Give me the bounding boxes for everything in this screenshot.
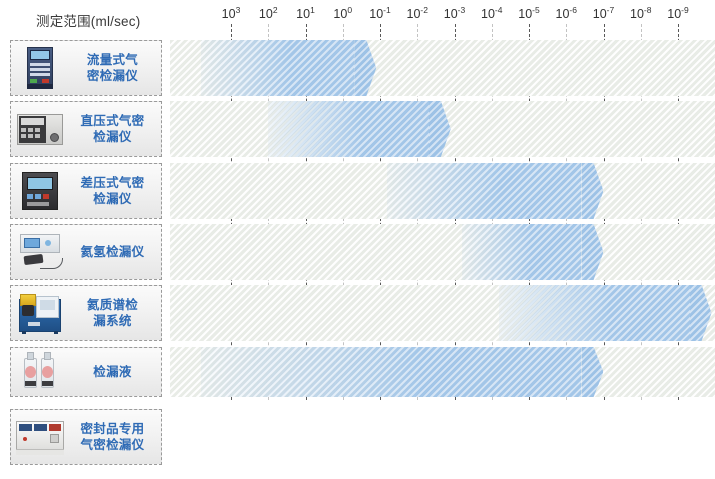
device-part-bar3	[49, 424, 61, 431]
device-part-screen	[21, 118, 44, 125]
device-part-t2	[42, 381, 53, 386]
device-part-l1	[25, 366, 36, 378]
row-track	[170, 40, 715, 96]
product-label-text: 密封品专用气密检漏仪	[68, 421, 157, 453]
device-illustration	[14, 107, 66, 151]
product-label-line-1: 检漏液	[68, 364, 157, 380]
device-part-b5	[28, 134, 33, 138]
chart-row: 氦氢检漏仪	[0, 224, 715, 280]
device-part-plate	[28, 322, 40, 326]
device-part-b2	[28, 128, 33, 132]
product-label-line-1: 密封品专用	[68, 421, 157, 437]
product-label-line-2: 检漏仪	[68, 191, 157, 207]
row-track	[170, 285, 715, 341]
range-bar-body	[201, 40, 354, 96]
device-part-screen	[24, 238, 40, 248]
range-bar-arrow-head	[581, 163, 603, 219]
range-bar	[462, 224, 604, 280]
product-label-line-1: 直压式气密	[68, 113, 157, 129]
product-label-line-2: 密检漏仪	[68, 68, 157, 84]
sealed-product-leak-tester-icon	[14, 415, 66, 459]
device-part-b4	[21, 134, 26, 138]
range-bar-body	[268, 101, 429, 157]
device-part-b1	[27, 194, 33, 199]
device-part-b3	[43, 194, 49, 199]
leak-detection-liquid-icon	[14, 350, 66, 394]
device-part-b6	[35, 134, 40, 138]
product-label-text: 检漏液	[68, 364, 157, 380]
range-bar-arrow-head	[581, 224, 603, 280]
device-part-l2	[42, 366, 53, 378]
device-illustration	[14, 415, 66, 459]
range-bar-body	[201, 347, 581, 397]
range-bar	[268, 101, 451, 157]
range-bar-body	[462, 224, 582, 280]
range-bar	[499, 285, 711, 341]
device-part-b2	[35, 194, 41, 199]
device-part-b4	[27, 202, 49, 206]
device-part-knob	[50, 133, 59, 142]
device-part-base	[27, 84, 53, 89]
product-label-text: 直压式气密检漏仪	[68, 113, 157, 145]
device-part-screen	[30, 50, 50, 60]
device-part-c2	[44, 352, 51, 360]
device-part-rr	[42, 79, 49, 83]
range-bar-arrow-head	[429, 101, 451, 157]
product-label-card[interactable]: 密封品专用气密检漏仪	[10, 409, 162, 465]
product-label-card[interactable]: 氦氢检漏仪	[10, 224, 162, 280]
product-label-card[interactable]: 差压式气密检漏仪	[10, 163, 162, 219]
chart-row: 直压式气密检漏仪	[0, 101, 715, 157]
helium-hydrogen-detector-icon	[14, 230, 66, 274]
product-label-text: 流量式气密检漏仪	[68, 52, 157, 84]
device-part-r2	[30, 68, 50, 71]
product-label-line-2: 漏系统	[68, 313, 157, 329]
device-part-bar2	[34, 424, 47, 431]
device-part-base	[16, 449, 64, 455]
product-label-line-2: 检漏仪	[68, 129, 157, 145]
device-part-c1	[27, 352, 34, 360]
device-part-r1	[30, 63, 50, 66]
device-part-b1	[21, 128, 26, 132]
product-label-text: 氦质谱检漏系统	[68, 297, 157, 329]
product-label-line-1: 氦氢检漏仪	[68, 244, 157, 260]
product-label-card[interactable]: 直压式气密检漏仪	[10, 101, 162, 157]
product-label-line-2: 气密检漏仪	[68, 437, 157, 453]
device-illustration	[14, 350, 66, 394]
device-part-foot2	[54, 331, 58, 334]
range-bar	[201, 347, 603, 397]
row-track	[170, 101, 715, 157]
row-track	[170, 224, 715, 280]
device-part-sq	[50, 434, 59, 443]
range-bar	[201, 40, 376, 96]
chart-rows: 流量式气密检漏仪直压式气密检漏仪差压式气密检漏仪氦氢检漏仪氦质谱检漏系统检漏液密…	[0, 0, 715, 479]
device-part-bar1	[19, 424, 32, 431]
product-label-line-1: 流量式气	[68, 52, 157, 68]
range-bar-body	[387, 163, 581, 219]
device-illustration	[14, 291, 66, 335]
device-part-dot	[23, 437, 27, 441]
device-part-g	[30, 79, 37, 83]
device-part-dot	[45, 240, 51, 246]
device-part-scr	[40, 300, 55, 310]
helium-mass-spectrometer-icon	[14, 291, 66, 335]
device-part-t1	[25, 381, 36, 386]
range-bar-body	[499, 285, 689, 341]
chart-row: 氦质谱检漏系统	[0, 285, 715, 341]
device-part-r3	[30, 73, 50, 76]
device-part-screen	[27, 177, 53, 190]
device-illustration	[14, 169, 66, 213]
product-label-text: 氦氢检漏仪	[68, 244, 157, 260]
device-part-blk	[22, 305, 34, 316]
product-label-line-1: 差压式气密	[68, 175, 157, 191]
product-label-card[interactable]: 流量式气密检漏仪	[10, 40, 162, 96]
range-bar-arrow-head	[690, 285, 712, 341]
device-part-foot1	[22, 331, 26, 334]
range-bar-arrow-head	[581, 347, 603, 397]
product-label-card[interactable]: 氦质谱检漏系统	[10, 285, 162, 341]
chart-row: 差压式气密检漏仪	[0, 163, 715, 219]
row-track	[170, 163, 715, 219]
device-illustration	[14, 230, 66, 274]
chart-row: 检漏液	[0, 347, 715, 397]
chart-row: 流量式气密检漏仪	[0, 40, 715, 96]
range-bar-arrow-head	[354, 40, 376, 96]
direct-pressure-leak-tester-icon	[14, 107, 66, 151]
device-part-b3	[35, 128, 40, 132]
product-label-line-1: 氦质谱检	[68, 297, 157, 313]
range-bar	[387, 163, 603, 219]
product-label-card[interactable]: 检漏液	[10, 347, 162, 397]
flow-type-leak-tester-icon	[14, 46, 66, 90]
row-track	[170, 347, 715, 397]
chart-row: 密封品专用气密检漏仪	[0, 409, 715, 465]
leak-test-range-chart: 测定范围(ml/sec) 10310210110010-110-210-310-…	[0, 0, 715, 479]
differential-pressure-leak-tester-icon	[14, 169, 66, 213]
product-label-text: 差压式气密检漏仪	[68, 175, 157, 207]
device-illustration	[14, 46, 66, 90]
device-part-cable	[40, 258, 63, 269]
